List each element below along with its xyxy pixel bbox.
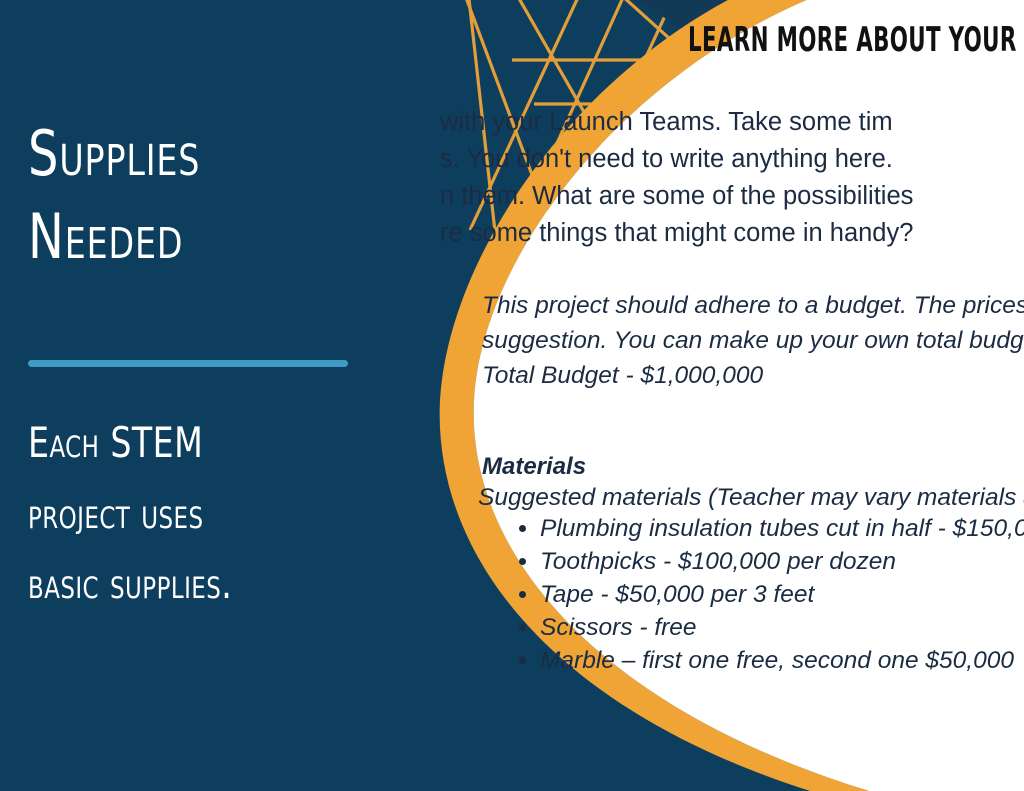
page-title-line-2: Needed bbox=[28, 195, 363, 278]
panel-subtitle-line-1: Each STEM bbox=[28, 408, 380, 479]
document-heading-text: LEARN MORE ABOUT YOUR ITEM bbox=[688, 19, 1024, 59]
document-heading: LEARN MORE ABOUT YOUR ITEM bbox=[688, 22, 1024, 56]
title-divider bbox=[28, 360, 348, 367]
panel-subtitle-line-2: project uses bbox=[28, 479, 380, 550]
intro-line-1: with your Launch Teams. Take some tim bbox=[440, 104, 1024, 141]
materials-list: Plumbing insulation tubes cut in half - … bbox=[506, 512, 1024, 677]
panel-subtitle-line-3: basic supplies. bbox=[28, 549, 380, 620]
budget-total-line: Total Budget - $1,000,000 bbox=[482, 358, 1024, 393]
budget-line-1: This project should adhere to a budget. … bbox=[482, 288, 1024, 323]
list-item: Plumbing insulation tubes cut in half - … bbox=[540, 512, 1024, 545]
intro-line-3: n them. What are some of the possibiliti… bbox=[440, 178, 1024, 215]
list-item: Marble – first one free, second one $50,… bbox=[540, 644, 1024, 677]
document-budget-paragraph: This project should adhere to a budget. … bbox=[482, 288, 1024, 393]
page-title-line-1: Supplies bbox=[28, 112, 363, 195]
budget-line-2: suggestion. You can make up your own tot… bbox=[482, 323, 1024, 358]
intro-line-2: s. You don't need to write anything here… bbox=[440, 141, 1024, 178]
intro-line-4: re some things that might come in handy? bbox=[440, 215, 1024, 252]
materials-heading: Materials bbox=[482, 453, 586, 481]
page-title: Supplies Needed bbox=[28, 112, 418, 278]
document-intro-paragraph: with your Launch Teams. Take some tim s.… bbox=[440, 104, 1024, 252]
list-item: Scissors - free bbox=[540, 611, 1024, 644]
materials-intro-text: Suggested materials (Teacher may vary ma… bbox=[478, 484, 1024, 512]
slide-canvas: Supplies Needed Each STEM project uses b… bbox=[0, 0, 1024, 791]
list-item: Toothpicks - $100,000 per dozen bbox=[540, 545, 1024, 578]
left-title-panel: Supplies Needed Each STEM project uses b… bbox=[0, 0, 440, 791]
list-item: Tape - $50,000 per 3 feet bbox=[540, 578, 1024, 611]
panel-subtitle: Each STEM project uses basic supplies. bbox=[28, 408, 428, 620]
